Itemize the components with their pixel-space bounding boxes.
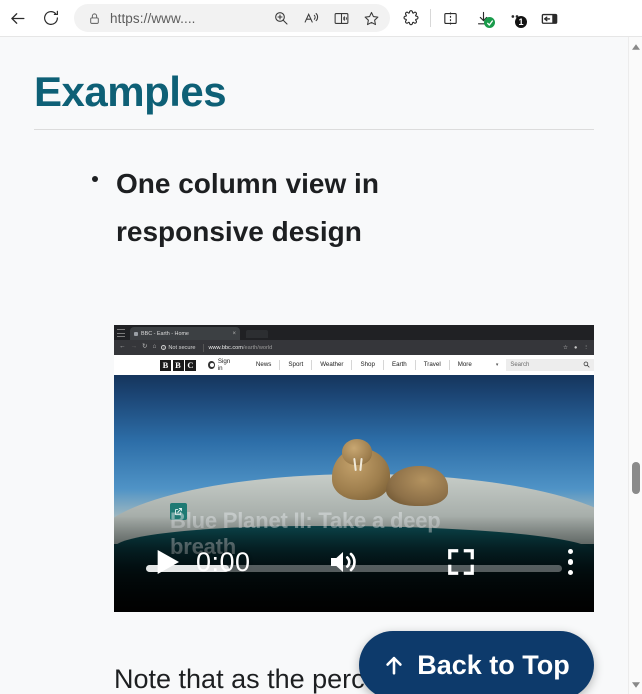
video-controls: 0:00 — [114, 516, 594, 612]
account-avatar-icon — [208, 361, 215, 369]
search-icon — [583, 361, 590, 370]
mock-home-icon: ⌂ — [152, 344, 156, 351]
mock-security-status: i Not secure — [161, 345, 195, 351]
play-icon — [151, 544, 183, 580]
address-bar-url[interactable]: https://www.... — [104, 11, 266, 26]
bullet-list: One column view in responsive design — [0, 160, 628, 255]
more-vertical-icon — [568, 549, 574, 576]
mock-url-path: /earth/world — [243, 345, 272, 351]
list-item: One column view in responsive design — [116, 160, 516, 255]
video-hero-frame: Blue Planet II: Take a deep breath 0:00 — [114, 375, 594, 612]
mock-profile-icon: ● — [574, 345, 577, 351]
download-complete-badge — [484, 17, 495, 28]
volume-button[interactable] — [317, 538, 369, 586]
bbc-logo-letter: C — [185, 360, 196, 371]
mock-browser-tab-secondary — [246, 330, 268, 338]
mock-tab-close-icon: × — [232, 331, 236, 337]
bbc-logo-letter: B — [160, 360, 171, 371]
toolbar-actions: 1 — [394, 3, 566, 33]
walrus-secondary — [386, 466, 448, 506]
downloads-icon[interactable] — [467, 3, 500, 33]
refresh-icon — [42, 9, 60, 27]
mock-star-icon: ☆ — [563, 345, 568, 351]
volume-icon — [325, 546, 361, 578]
zoom-in-icon[interactable] — [266, 5, 296, 31]
back-to-top-label: Back to Top — [417, 650, 570, 681]
fullscreen-button[interactable] — [435, 538, 487, 586]
immersive-reader-icon[interactable] — [326, 5, 356, 31]
sidebar-icon[interactable] — [533, 3, 566, 33]
video-current-time: 0:00 — [196, 547, 251, 578]
chevron-down-icon: ▾ — [496, 362, 499, 368]
bbc-nav-item: Travel — [415, 360, 449, 370]
play-button[interactable] — [144, 538, 190, 586]
bbc-sign-in: Sign in — [208, 358, 234, 372]
mock-reload-icon: ↻ — [142, 344, 147, 351]
bbc-nav-item: Sport — [279, 360, 311, 370]
mock-back-icon: ← — [119, 344, 126, 351]
mock-tab-favicon-icon — [134, 332, 138, 336]
back-to-top-button[interactable]: Back to Top — [359, 631, 594, 694]
bullet-dot-icon — [92, 176, 98, 182]
bbc-logo: B B C — [160, 360, 196, 371]
bbc-nav-item: More — [449, 360, 480, 370]
mock-forward-icon: → — [131, 344, 138, 351]
mock-url-domain: www.bbc.com — [208, 345, 243, 351]
walrus-tusk — [353, 458, 357, 471]
back-button[interactable] — [0, 3, 34, 33]
scroll-up-arrow[interactable] — [629, 39, 642, 55]
browser-toolbar: https://www.... — [0, 0, 642, 36]
video-progress-fill — [146, 565, 229, 572]
bbc-search-placeholder: Search — [510, 362, 529, 368]
bbc-search-box: Search — [506, 359, 594, 371]
page-viewport: Examples One column view in responsive d… — [0, 36, 642, 694]
more-options-button[interactable] — [551, 538, 591, 586]
walrus-tusk — [359, 458, 363, 471]
bbc-global-nav: B B C Sign in News Sport Weather Shop Ea… — [114, 355, 594, 375]
read-aloud-icon[interactable] — [296, 5, 326, 31]
mock-browser-chrome: BBC - Earth - Home × ← → ↻ ⌂ i Not secur… — [114, 325, 594, 355]
extensions-icon[interactable] — [394, 3, 427, 33]
mock-menu-icon — [117, 329, 125, 337]
page-scrollbar[interactable] — [628, 37, 642, 694]
address-bar[interactable]: https://www.... — [74, 4, 390, 32]
walrus-primary — [332, 448, 390, 500]
arrow-up-icon — [383, 652, 405, 678]
list-item-label: One column view in responsive design — [116, 168, 379, 247]
mock-tab-title: BBC - Earth - Home — [141, 331, 189, 337]
bbc-nav: News Sport Weather Shop Earth Travel Mor… — [256, 360, 480, 370]
video-player[interactable]: BBC - Earth - Home × ← → ↻ ⌂ i Not secur… — [114, 325, 594, 612]
mock-url-divider — [203, 344, 204, 352]
split-screen-icon[interactable] — [434, 3, 467, 33]
scroll-down-arrow[interactable] — [629, 677, 642, 693]
lock-icon — [84, 12, 104, 25]
refresh-button[interactable] — [34, 3, 68, 33]
bbc-nav-item: News — [256, 360, 279, 370]
bbc-nav-item: Weather — [311, 360, 351, 370]
mock-address-bar: ← → ↻ ⌂ i Not secure www.bbc.com/earth/w… — [114, 340, 594, 355]
profile-notification-badge: 1 — [515, 16, 527, 28]
page-content: Examples One column view in responsive d… — [0, 37, 628, 694]
mock-security-label: Not secure — [168, 345, 195, 351]
settings-more-icon[interactable]: 1 — [500, 3, 533, 33]
fullscreen-icon — [446, 547, 476, 577]
page-title: Examples — [34, 69, 628, 115]
bbc-nav-item: Earth — [383, 360, 415, 370]
mock-url: www.bbc.com/earth/world — [208, 345, 272, 351]
mock-browser-tab: BBC - Earth - Home × — [130, 327, 240, 340]
mock-tab-strip: BBC - Earth - Home × — [114, 325, 594, 340]
title-divider — [34, 129, 594, 130]
video-controls-row: 0:00 — [114, 538, 594, 586]
back-arrow-icon — [8, 9, 27, 28]
favorite-star-icon[interactable] — [356, 5, 386, 31]
bbc-sign-in-label: Sign in — [218, 358, 234, 372]
mock-menu-dots-icon: ⋮ — [583, 345, 589, 351]
mock-info-icon: i — [161, 345, 166, 350]
mock-toolbar-right: ☆ ● ⋮ — [563, 345, 589, 351]
video-progress-bar[interactable] — [146, 565, 562, 572]
toolbar-divider — [430, 9, 431, 27]
scroll-thumb[interactable] — [632, 462, 640, 494]
bbc-nav-item: Shop — [351, 360, 382, 370]
bbc-logo-letter: B — [173, 360, 184, 371]
